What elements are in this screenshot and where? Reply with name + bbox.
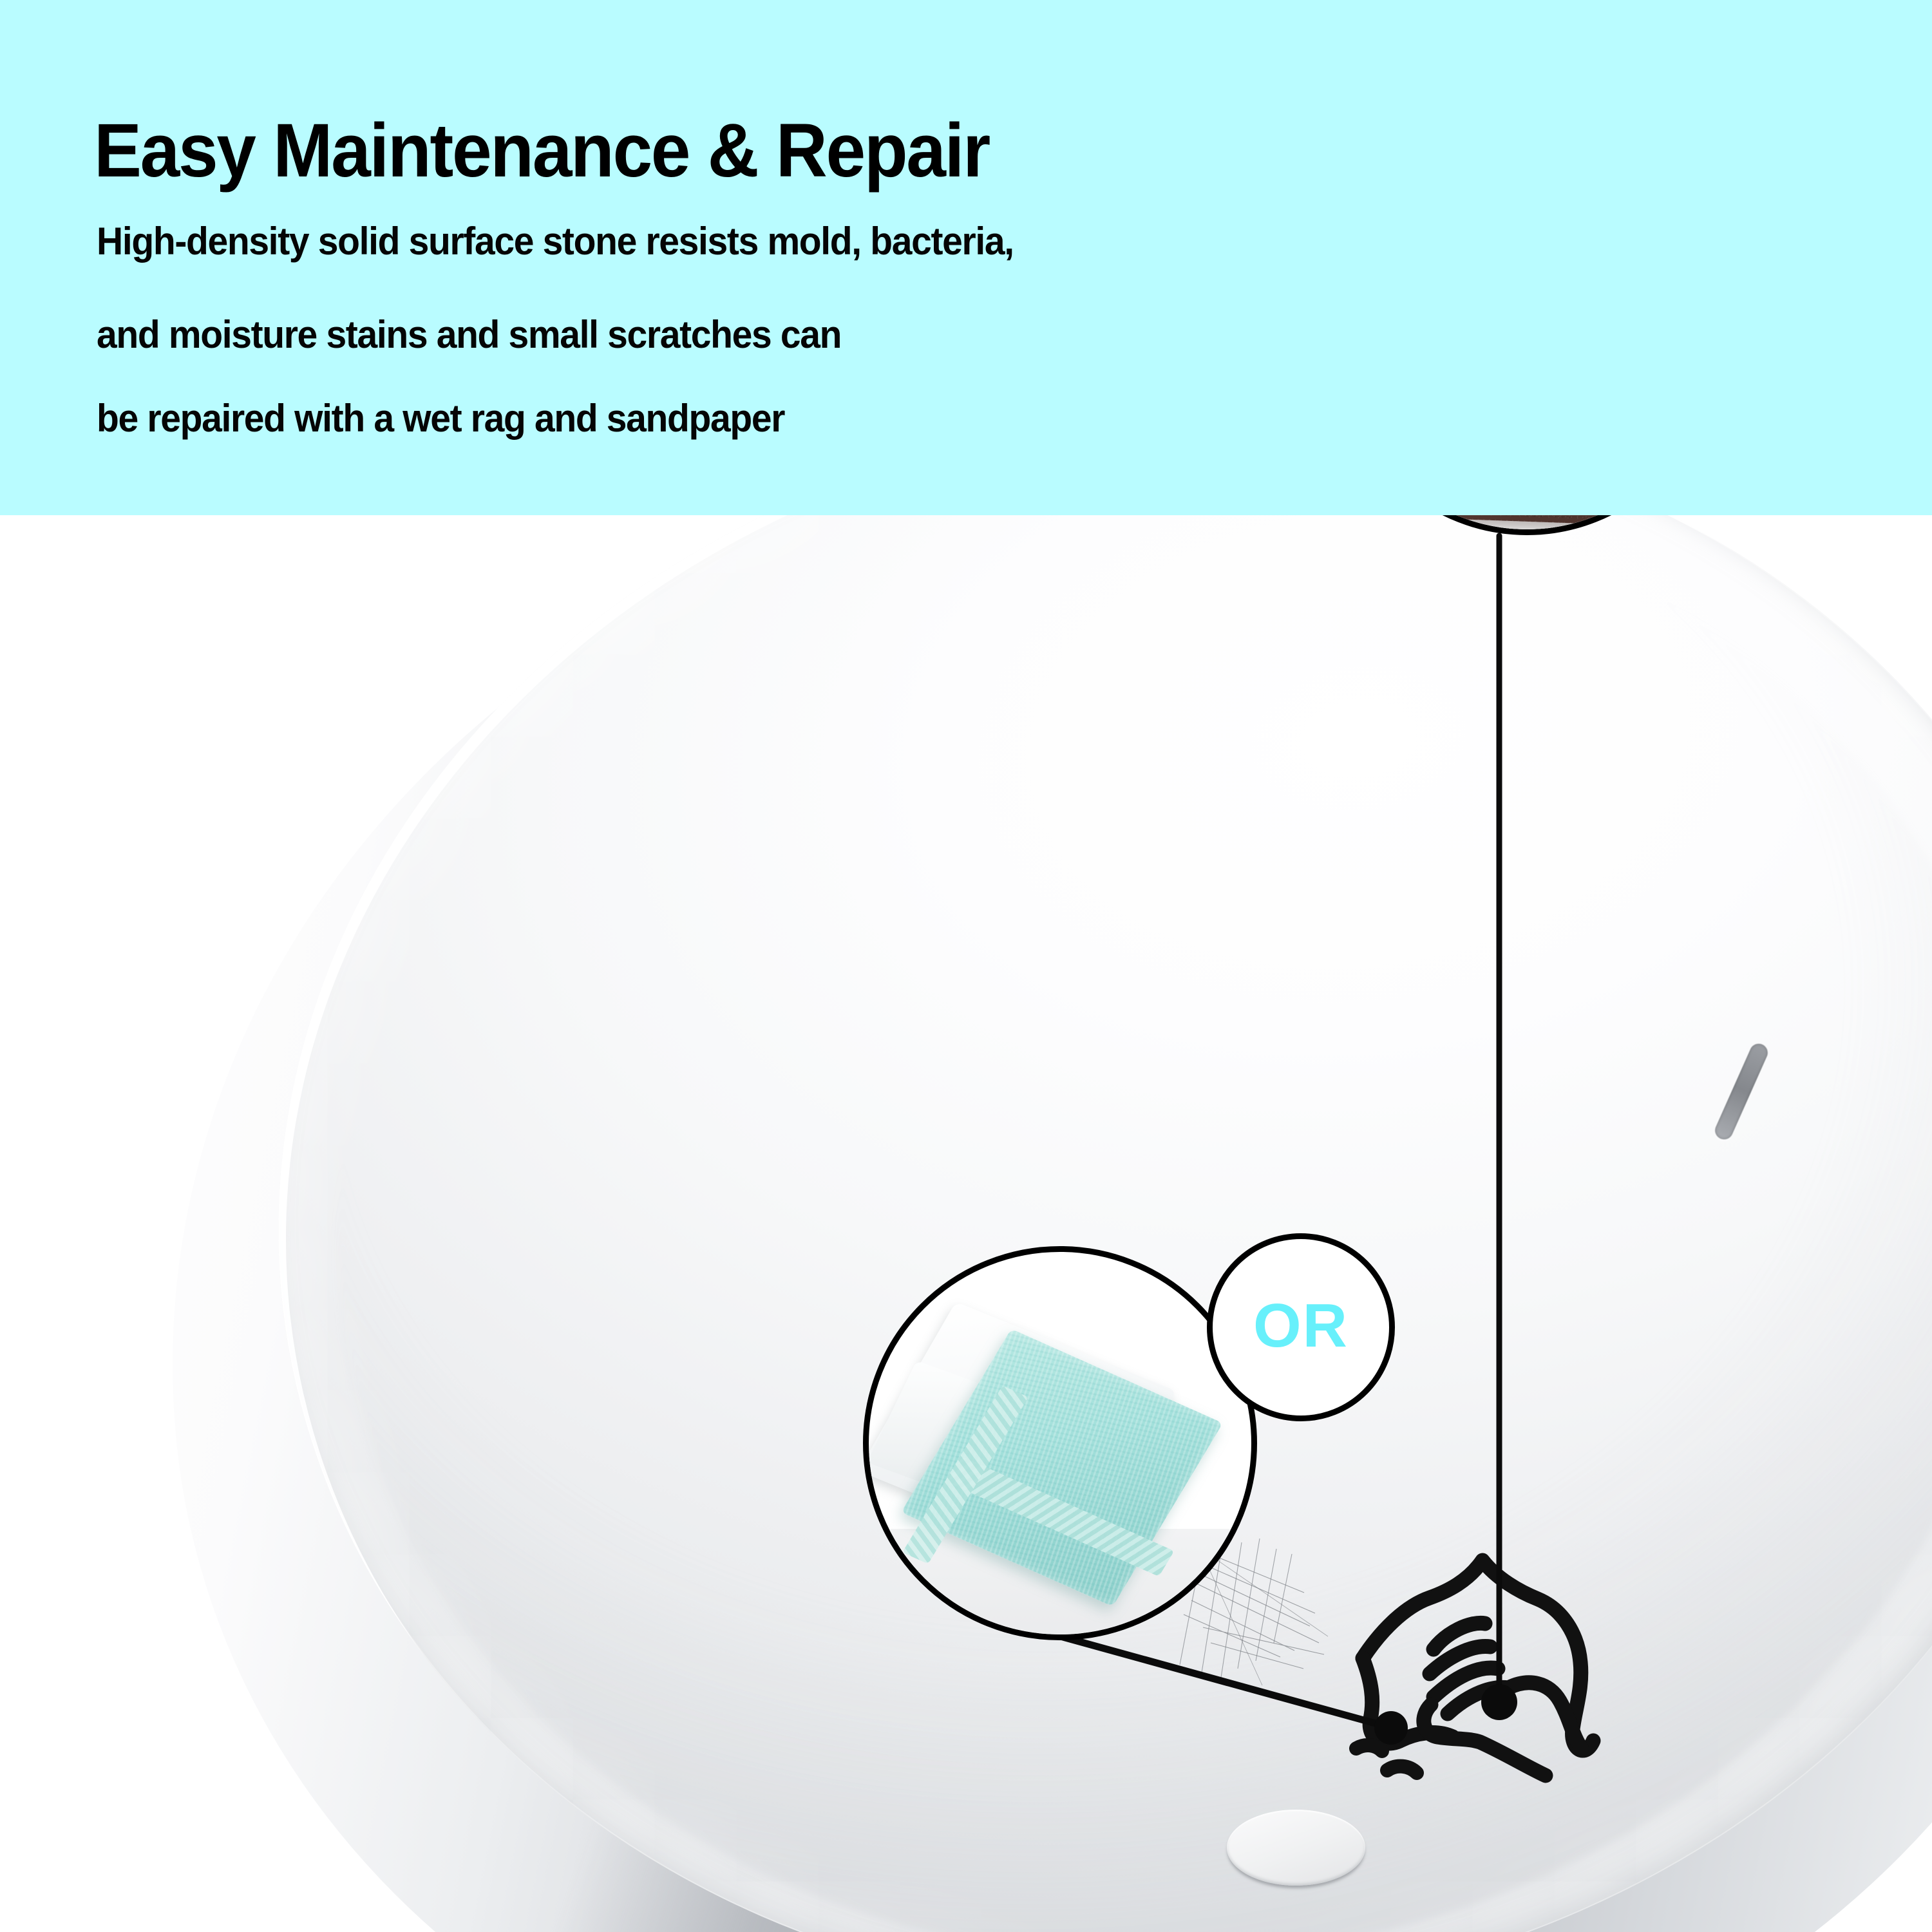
leader-line-rag	[1028, 1627, 1385, 1726]
product-photo-stage: OR	[0, 515, 1932, 1932]
page-title: Easy Maintenance & Repair	[94, 113, 989, 189]
callout-circle-rag[interactable]	[863, 1246, 1257, 1640]
folded-towels-icon	[869, 1252, 1251, 1634]
leader-dot-rag	[1374, 1711, 1408, 1745]
infographic-canvas: OR Easy Maintenance & Repair High-densit…	[0, 0, 1932, 1932]
description-line-3: be repaired with a wet rag and sandpaper	[97, 399, 784, 438]
description-line-1: High-density solid surface stone resists…	[97, 222, 1014, 261]
or-badge-label: OR	[1253, 1295, 1349, 1357]
header-band: Easy Maintenance & Repair High-density s…	[0, 0, 1932, 515]
or-badge: OR	[1207, 1233, 1395, 1421]
description-line-2: and moisture stains and small scratches …	[97, 316, 841, 354]
leader-dot-sandpaper	[1481, 1684, 1517, 1720]
sandpaper-roll-icon	[1344, 515, 1710, 529]
callout-leader-lines	[0, 515, 1932, 1932]
